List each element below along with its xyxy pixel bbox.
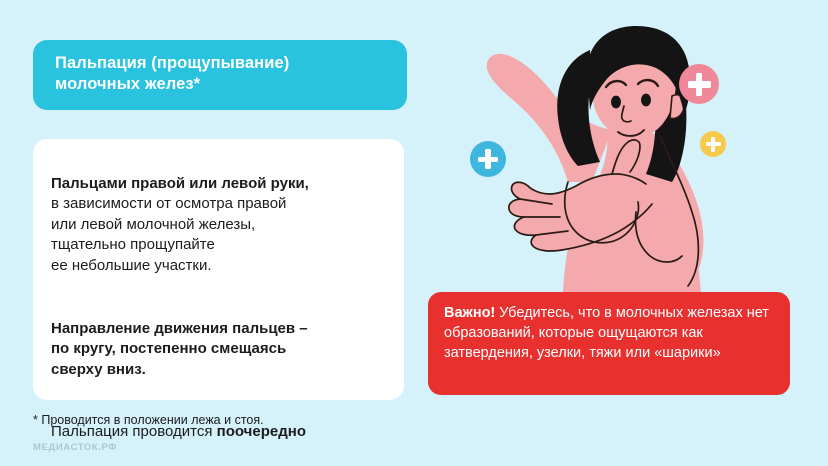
instruction-block-1-lead: Пальцами правой или левой руки,	[51, 174, 388, 195]
instructions-card: Пальцами правой или левой руки,в зависим…	[33, 139, 404, 400]
important-note-card: Важно! Убедитесь, что в молочных железах…	[428, 292, 790, 395]
plus-badge-blue-icon	[470, 141, 506, 177]
important-note-label: Важно!	[444, 305, 495, 321]
plus-badge-yellow-icon	[700, 131, 726, 157]
footnote: * Проводится в положении лежа и стоя.	[33, 412, 264, 428]
plus-vertical-bar	[485, 149, 491, 169]
plus-vertical-bar	[696, 73, 703, 96]
plus-vertical-bar	[711, 137, 715, 152]
header-card: Пальпация (прощупывание) молочных желез*	[33, 40, 407, 110]
instruction-block-1-body: в зависимости от осмотра правой или лево…	[51, 195, 286, 274]
important-note-text: Важно! Убедитесь, что в молочных железах…	[444, 303, 776, 363]
watermark: МЕДИАСТОК.РФ	[33, 442, 117, 453]
page-title: Пальпация (прощупывание) молочных желез*	[55, 53, 407, 95]
figure-body	[487, 26, 704, 314]
instruction-block-2-lead: Направление движения пальцев – по кругу,…	[51, 320, 308, 378]
slide-canvas: Пальпация (прощупывание) молочных желез*…	[0, 0, 828, 466]
plus-badge-pink-icon	[679, 64, 719, 104]
instruction-block-2: Направление движения пальцев – по кругу,…	[51, 298, 388, 380]
instruction-block-1: Пальцами правой или левой руки,в зависим…	[51, 153, 388, 276]
